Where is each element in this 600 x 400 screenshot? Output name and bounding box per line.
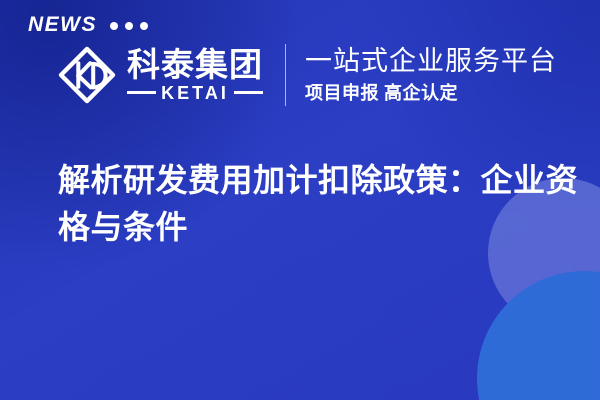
vertical-divider (285, 44, 286, 106)
dot-icon (125, 22, 133, 30)
rule-left (127, 91, 156, 94)
dot-icon (110, 22, 118, 30)
news-tag: NEWS (28, 14, 148, 35)
headline-title: 解析研发费用加计扣除政策：企业资格与条件 (58, 157, 578, 252)
brand-name-en-row: KETAI (127, 84, 263, 102)
news-label: NEWS (28, 14, 97, 35)
ketai-diamond-logo-icon (56, 44, 118, 106)
tagline-sub: 项目申报 高企认定 (305, 82, 557, 105)
tagline-block: 一站式企业服务平台 项目申报 高企认定 (305, 46, 557, 104)
tagline-main: 一站式企业服务平台 (305, 46, 557, 78)
brand-name-en: KETAI (161, 84, 229, 102)
dot-icon (140, 22, 148, 30)
rule-right (234, 91, 263, 94)
brand-wordmark: 科泰集团 KETAI (127, 48, 263, 102)
brand-name-cn: 科泰集团 (127, 48, 263, 83)
decorative-circle-front (477, 271, 600, 400)
news-dots-icon (110, 22, 148, 30)
news-banner: NEWS 科泰集团 KETAI (0, 0, 600, 400)
brand-lockup: 科泰集团 KETAI 一站式企业服务平台 项目申报 高企认定 (56, 44, 557, 106)
